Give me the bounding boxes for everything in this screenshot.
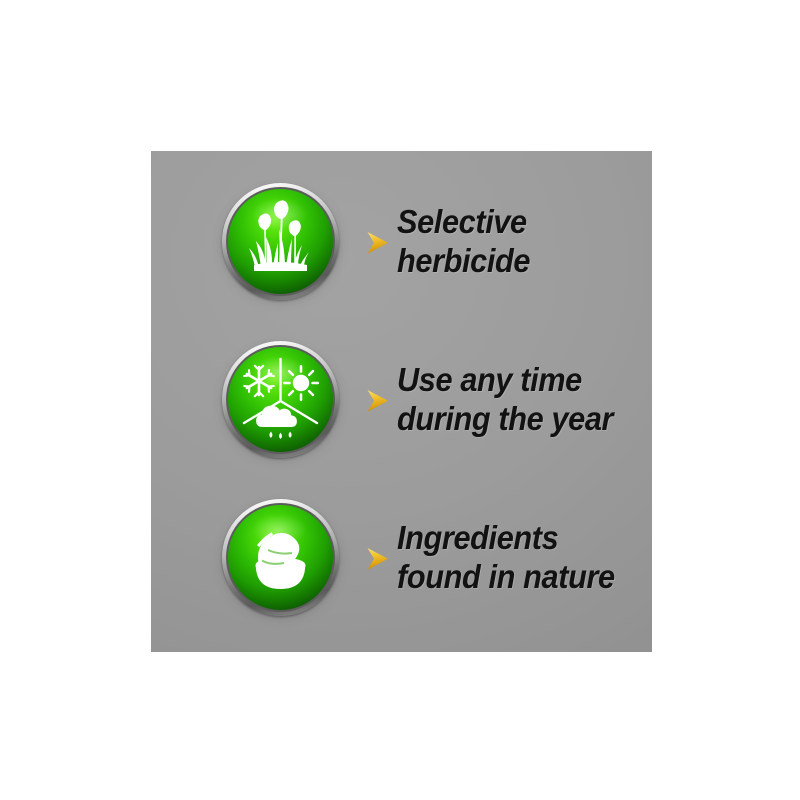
grass-icon bbox=[228, 189, 333, 294]
feature-row: Ingredients found in nature bbox=[151, 483, 652, 633]
feature-text-group: Ingredients found in nature bbox=[365, 519, 652, 597]
feature-badge-selective-herbicide bbox=[217, 179, 343, 305]
mortar-bowl-with-leaf-icon bbox=[228, 505, 333, 610]
chevron-right-icon bbox=[365, 545, 391, 573]
feature-label-line: during the year bbox=[397, 400, 613, 439]
badge-green-face bbox=[228, 347, 333, 452]
feature-label-line: Use any time bbox=[397, 361, 613, 400]
feature-row: Selective herbicide bbox=[151, 167, 652, 317]
badge-green-face bbox=[228, 189, 333, 294]
feature-label-line: found in nature bbox=[397, 558, 615, 597]
feature-label-line: herbicide bbox=[397, 242, 530, 281]
feature-label: Ingredients found in nature bbox=[397, 519, 615, 597]
feature-text-group: Selective herbicide bbox=[365, 203, 652, 281]
all-season-weather-icon bbox=[228, 347, 333, 452]
feature-label: Use any time during the year bbox=[397, 361, 613, 439]
chevron-right-icon bbox=[365, 387, 391, 415]
feature-text-group: Use any time during the year bbox=[365, 361, 652, 439]
chevron-right-icon bbox=[365, 229, 391, 257]
feature-badge-natural-ingredients bbox=[217, 495, 343, 621]
feature-badge-use-any-time bbox=[217, 337, 343, 463]
feature-label-line: Ingredients bbox=[397, 519, 615, 558]
feature-label: Selective herbicide bbox=[397, 203, 530, 281]
feature-highlights-panel: Selective herbicide bbox=[151, 151, 652, 652]
badge-green-face bbox=[228, 505, 333, 610]
feature-row: Use any time during the year bbox=[151, 325, 652, 475]
feature-label-line: Selective bbox=[397, 203, 530, 242]
